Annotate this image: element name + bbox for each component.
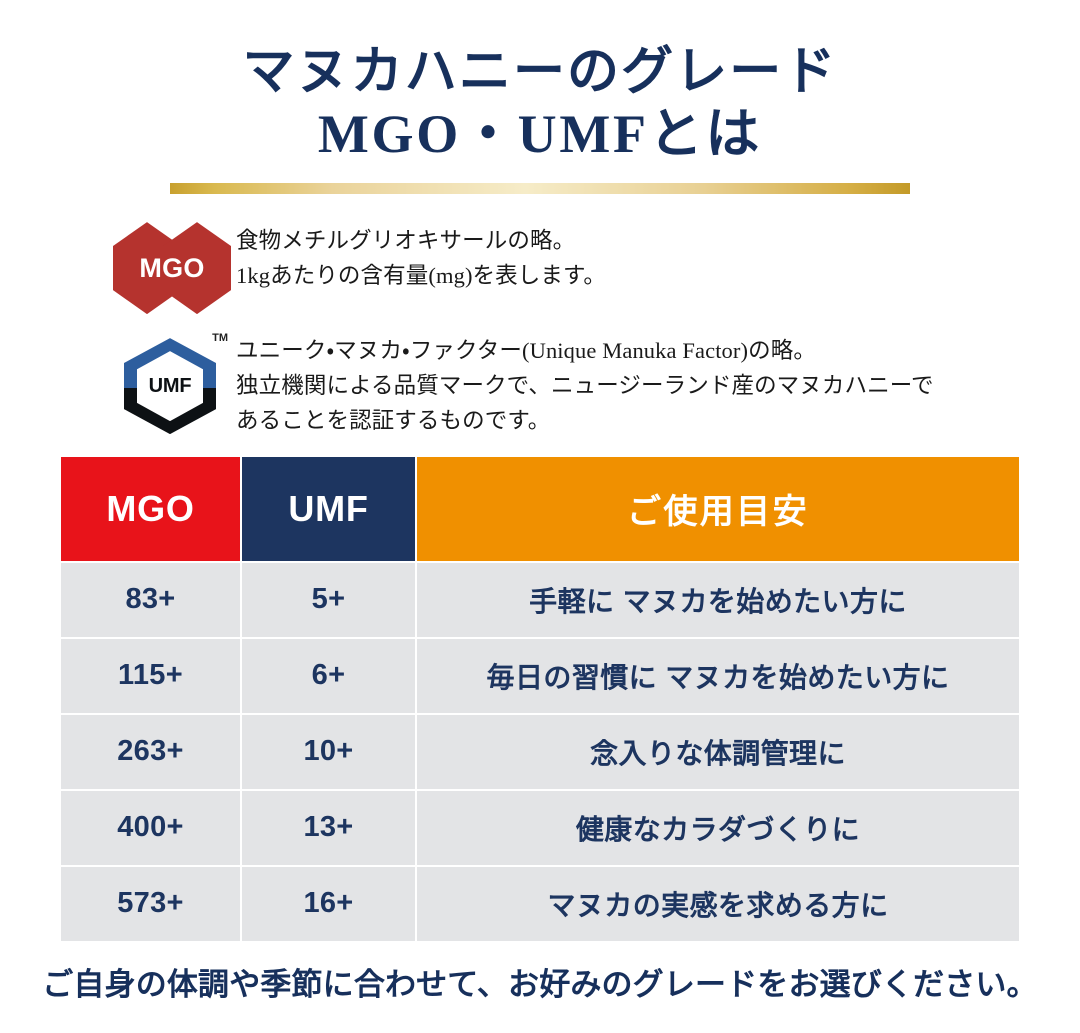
page-title-block: マヌカハニーのグレード MGO・UMFとは	[0, 0, 1080, 194]
trademark-icon: TM	[212, 332, 228, 344]
cell-umf-value: 10+	[241, 714, 416, 790]
cell-usage-value: 手軽に マヌカを始めたい方に	[416, 562, 1020, 638]
mgo-description: 食物メチルグリオキサールの略。 1kgあたりの含有量(mg)を表します。	[236, 220, 606, 294]
umf-description-line-2: 独立機関による品質マークで、ニュージーランド産のマヌカハニーで	[236, 369, 934, 404]
cell-umf-value: 6+	[241, 638, 416, 714]
definition-row-umf: UMF TM ユニーク・マヌカ・ファクター(Unique Manuka Fact…	[108, 330, 1080, 439]
grade-table: MGO UMF ご使用目安 83+ 5+ 手軽に マヌカを始めたい方に 115+…	[59, 455, 1021, 943]
mgo-description-line-1: 食物メチルグリオキサールの略。	[236, 224, 606, 259]
column-header-mgo: MGO	[60, 456, 241, 562]
umf-badge-label: UMF	[137, 351, 203, 421]
umf-description-line-1: ユニーク・マヌカ・ファクター(Unique Manuka Factor)の略。	[236, 334, 934, 369]
umf-description: ユニーク・マヌカ・ファクター(Unique Manuka Factor)の略。 …	[236, 330, 934, 439]
footer-note: ご自身の体調や季節に合わせて、お好みのグレードをお選びください。	[40, 959, 1040, 1004]
table-row: 400+ 13+ 健康なカラダづくりに	[60, 790, 1020, 866]
mgo-badge-label: MGO	[113, 222, 231, 314]
cell-mgo-value: 573+	[60, 866, 241, 942]
table-row: 573+ 16+ マヌカの実感を求める方に	[60, 866, 1020, 942]
umf-hexagon-icon: UMF TM	[120, 332, 224, 436]
cell-umf-value: 13+	[241, 790, 416, 866]
mgo-badge: MGO	[108, 220, 236, 314]
cell-mgo-value: 115+	[60, 638, 241, 714]
cell-usage-value: マヌカの実感を求める方に	[416, 866, 1020, 942]
page-title-line-2: MGO・UMFとは	[0, 103, 1080, 167]
table-row: 263+ 10+ 念入りな体調管理に	[60, 714, 1020, 790]
table-row: 115+ 6+ 毎日の習慣に マヌカを始めたい方に	[60, 638, 1020, 714]
umf-description-line-3: あることを認証するものです。	[236, 404, 934, 439]
page-title-line-1: マヌカハニーのグレード	[0, 42, 1080, 103]
cell-usage-value: 健康なカラダづくりに	[416, 790, 1020, 866]
cell-umf-value: 16+	[241, 866, 416, 942]
cell-mgo-value: 263+	[60, 714, 241, 790]
column-header-umf: UMF	[241, 456, 416, 562]
mgo-hexagon-icon: MGO	[113, 222, 231, 314]
grade-table-body: 83+ 5+ 手軽に マヌカを始めたい方に 115+ 6+ 毎日の習慣に マヌカ…	[60, 562, 1020, 942]
mgo-description-line-2: 1kgあたりの含有量(mg)を表します。	[236, 259, 606, 294]
table-header-row: MGO UMF ご使用目安	[60, 456, 1020, 562]
cell-mgo-value: 83+	[60, 562, 241, 638]
cell-mgo-value: 400+	[60, 790, 241, 866]
table-row: 83+ 5+ 手軽に マヌカを始めたい方に	[60, 562, 1020, 638]
cell-umf-value: 5+	[241, 562, 416, 638]
grade-table-head: MGO UMF ご使用目安	[60, 456, 1020, 562]
definitions-section: MGO 食物メチルグリオキサールの略。 1kgあたりの含有量(mg)を表します。…	[0, 220, 1080, 439]
definition-row-mgo: MGO 食物メチルグリオキサールの略。 1kgあたりの含有量(mg)を表します。	[108, 220, 1080, 314]
cell-usage-value: 毎日の習慣に マヌカを始めたい方に	[416, 638, 1020, 714]
column-header-usage: ご使用目安	[416, 456, 1020, 562]
cell-usage-value: 念入りな体調管理に	[416, 714, 1020, 790]
gold-divider	[170, 183, 910, 194]
umf-badge: UMF TM	[108, 330, 236, 436]
